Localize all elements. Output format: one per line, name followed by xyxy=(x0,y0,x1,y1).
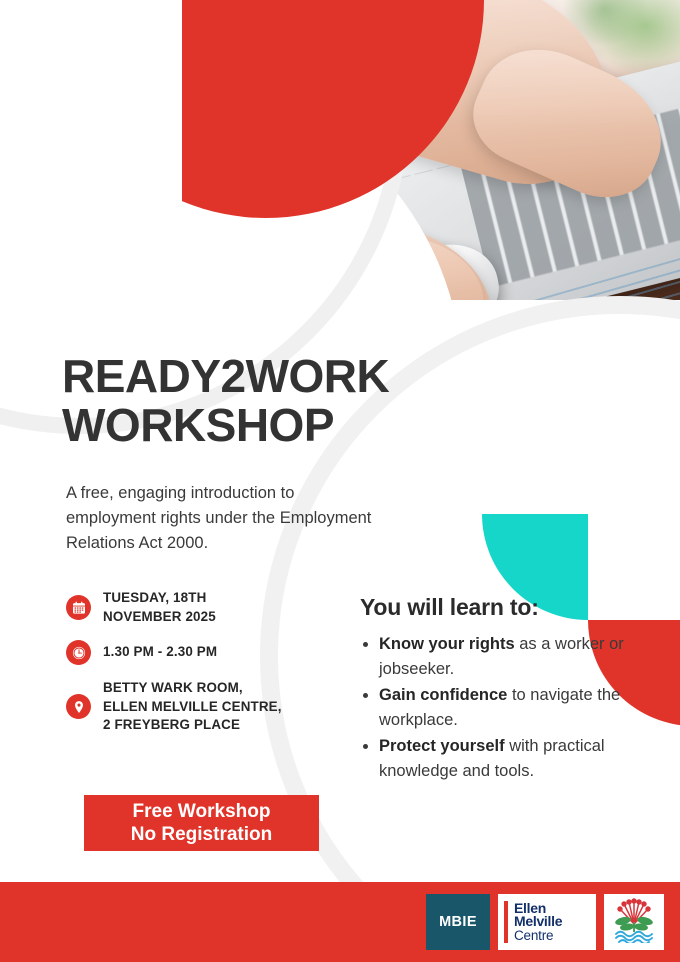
list-item-bold: Know your rights xyxy=(379,635,515,653)
detail-location-text: BETTY WARK ROOM, ELLEN MELVILLE CENTRE, … xyxy=(103,679,282,735)
logo-ellen-melville-centre: Ellen Melville Centre xyxy=(498,894,596,950)
subtitle: A free, engaging introduction to employm… xyxy=(66,481,376,556)
logo-auckland-council xyxy=(604,894,664,950)
cta-line-1: Free Workshop xyxy=(133,800,271,823)
detail-row-location: BETTY WARK ROOM, ELLEN MELVILLE CENTRE, … xyxy=(66,679,336,735)
list-item: Gain confidence to navigate the workplac… xyxy=(379,683,664,733)
detail-row-time: 1.30 PM - 2.30 PM xyxy=(66,640,336,665)
teal-quarter-circle-right-two-mask xyxy=(588,408,680,514)
location-pin-icon xyxy=(66,694,91,719)
list-item: Know your rights as a worker or jobseeke… xyxy=(379,632,664,682)
location-line-2: ELLEN MELVILLE CENTRE, xyxy=(103,699,282,714)
list-item-bold: Protect yourself xyxy=(379,737,505,755)
red-quarter-circle-right-mask xyxy=(588,514,680,620)
poster: READY2WORK WORKSHOP A free, engaging int… xyxy=(0,0,680,962)
event-details: TUESDAY, 18TH NOVEMBER 2025 1.30 PM - 2.… xyxy=(66,589,336,749)
free-workshop-badge[interactable]: Free Workshop No Registration xyxy=(84,795,319,851)
title-line-1: READY2WORK xyxy=(62,350,389,402)
detail-date-text: TUESDAY, 18TH NOVEMBER 2025 xyxy=(103,589,216,626)
learn-list: Know your rights as a worker or jobseeke… xyxy=(360,632,664,785)
pohutukawa-waves-icon xyxy=(612,897,656,948)
page-title: READY2WORK WORKSHOP xyxy=(62,352,482,450)
calendar-icon xyxy=(66,595,91,620)
logo-mbie-label: MBIE xyxy=(439,914,477,930)
footer-bar: MBIE Ellen Melville Centre xyxy=(0,882,680,962)
cta-line-2: No Registration xyxy=(131,823,272,846)
teal-quarter-circle-right-one-mask xyxy=(482,408,588,514)
logo-emc-red-bar xyxy=(504,901,508,943)
logo-emc-text: Ellen Melville Centre xyxy=(514,902,562,943)
title-line-2: WORKSHOP xyxy=(62,399,334,451)
clock-icon xyxy=(66,640,91,665)
location-line-3: 2 FREYBERG PLACE xyxy=(103,717,240,732)
detail-time-text: 1.30 PM - 2.30 PM xyxy=(103,643,217,662)
date-line-1: TUESDAY, 18TH xyxy=(103,590,206,605)
logo-emc-line-3: Centre xyxy=(514,929,562,943)
learn-heading: You will learn to: xyxy=(360,594,539,621)
footer-logos: MBIE Ellen Melville Centre xyxy=(426,894,664,950)
logo-emc-line-2: Melville xyxy=(514,915,562,929)
list-item-bold: Gain confidence xyxy=(379,686,507,704)
list-item: Protect yourself with practical knowledg… xyxy=(379,734,664,784)
location-line-1: BETTY WARK ROOM, xyxy=(103,680,243,695)
logo-mbie: MBIE xyxy=(426,894,490,950)
date-line-2: NOVEMBER 2025 xyxy=(103,609,216,624)
red-quarter-circle-mask xyxy=(0,0,182,284)
detail-row-date: TUESDAY, 18TH NOVEMBER 2025 xyxy=(66,589,336,626)
